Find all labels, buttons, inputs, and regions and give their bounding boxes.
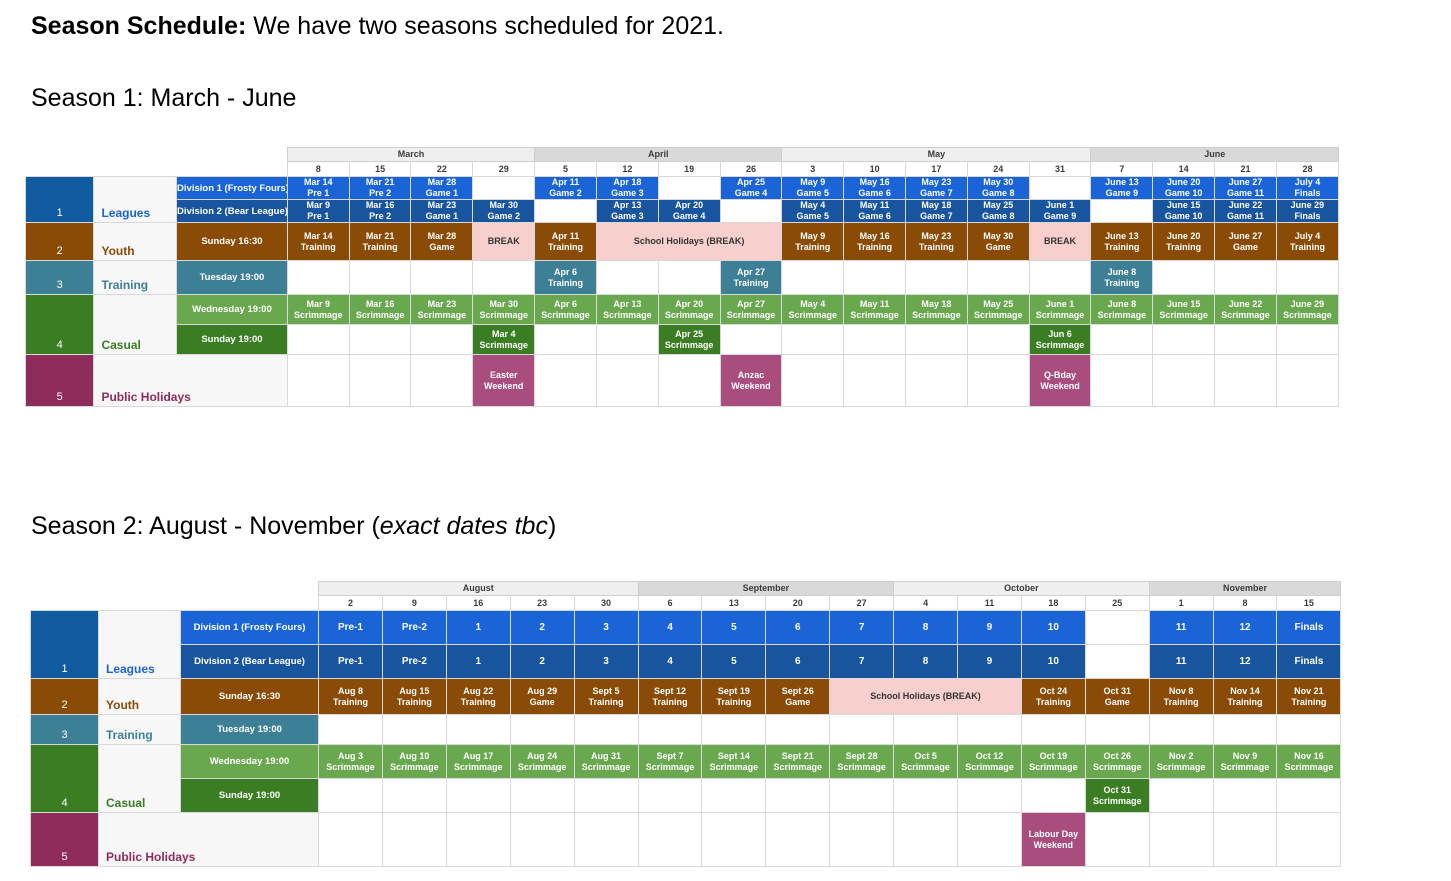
day-header: 15: [349, 162, 411, 177]
cell-line1: June 20: [1153, 231, 1214, 242]
division-2-cell: May 11Game 6: [844, 200, 906, 223]
cell-line1: May 23: [906, 231, 967, 242]
row-public-holidays: 5Public HolidaysEasterWeekendAnzacWeeken…: [26, 355, 1339, 407]
break-cell: School Holidays (BREAK): [830, 679, 1022, 715]
scrimmage-cell: Aug 31Scrimmage: [574, 745, 638, 779]
empty-cell: [830, 715, 894, 745]
schedule-page: Season Schedule: We have two seasons sch…: [0, 0, 1451, 881]
day-header: 31: [1029, 162, 1091, 177]
empty-cell: [1215, 261, 1277, 295]
cell-line1: June 8: [1091, 299, 1152, 310]
cell-line1: May 16: [844, 177, 905, 188]
empty-cell: [1153, 261, 1215, 295]
day-header: 7: [1091, 162, 1153, 177]
day-header: 1: [1149, 596, 1213, 611]
division-1-cell: Mar 28Game 1: [411, 177, 473, 200]
division-2-cell: 9: [958, 645, 1022, 679]
cell-line1: Aug 10: [383, 751, 446, 762]
empty-cell: [782, 261, 844, 295]
public-holiday-cell: EasterWeekend: [473, 355, 535, 407]
empty-cell: [894, 813, 958, 867]
youth-cell: Sept 19Training: [702, 679, 766, 715]
cell-line2: Training: [1277, 242, 1338, 253]
cell-line1: Sept 5: [575, 686, 638, 697]
cell-line2: Game 6: [844, 211, 905, 222]
cell-line1: July 4: [1277, 231, 1338, 242]
day-header: 26: [720, 162, 782, 177]
cell-line2: Scrimmage: [1277, 762, 1340, 773]
cell-line2: Game 7: [906, 211, 967, 222]
cell-line2: Training: [1091, 278, 1152, 289]
sub-label-division-1: Division 1 (Frosty Fours): [181, 611, 319, 645]
division-2-cell: May 25Game 8: [967, 200, 1029, 223]
division-1-cell: Pre-1: [319, 611, 383, 645]
empty-cell: [702, 813, 766, 867]
header-spacer: [31, 582, 319, 596]
cell-line2: Weekend: [1030, 381, 1091, 392]
empty-cell: [446, 813, 510, 867]
sub-label-division-2: Division 2 (Bear League): [181, 645, 319, 679]
scrimmage-cell: Oct 19Scrimmage: [1021, 745, 1085, 779]
cell-line2: Training: [575, 697, 638, 708]
cell-line2: Training: [1153, 242, 1214, 253]
scrimmage-cell: Apr 13Scrimmage: [596, 295, 658, 325]
scrimmage-cell: Mar 30Scrimmage: [473, 295, 535, 325]
public-holiday-cell: AnzacWeekend: [720, 355, 782, 407]
sub-label-sunday: Sunday 19:00: [177, 325, 288, 355]
scrimmage-cell: Mar 23Scrimmage: [411, 295, 473, 325]
cell-line2: Scrimmage: [1153, 310, 1214, 321]
cell-line1: June 22: [1215, 200, 1276, 211]
cell-line2: Game 7: [906, 188, 967, 199]
cell-line2: Scrimmage: [473, 340, 534, 351]
day-header: 18: [1021, 596, 1085, 611]
cell-line1: Nov 2: [1150, 751, 1213, 762]
empty-cell: [473, 261, 535, 295]
cell-line2: Game 3: [597, 211, 658, 222]
cell-line2: Training: [702, 697, 765, 708]
row-index-public-holidays: 5: [26, 355, 94, 407]
empty-cell: [958, 779, 1022, 813]
empty-cell: [596, 355, 658, 407]
cell-line2: Scrimmage: [1030, 340, 1091, 351]
cell-line2: Training: [1091, 242, 1152, 253]
youth-cell: July 4Training: [1276, 223, 1338, 261]
cell-line1: Sept 28: [830, 751, 893, 762]
youth-cell: Aug 15Training: [382, 679, 446, 715]
cell-line1: May 9: [782, 231, 843, 242]
division-2-cell: 2: [510, 645, 574, 679]
scrimmage-cell: June 1Scrimmage: [1029, 295, 1091, 325]
row-training: 3TrainingTuesday 19:00: [31, 715, 1341, 745]
cell-line1: Oct 5: [894, 751, 957, 762]
cell-line2: Training: [906, 242, 967, 253]
month-header: September: [638, 582, 894, 596]
youth-cell: June 27Game: [1215, 223, 1277, 261]
empty-cell: [510, 813, 574, 867]
empty-cell: [967, 355, 1029, 407]
season2-table: AugustSeptemberOctoberNovember2916233061…: [30, 581, 1341, 867]
day-header: 2: [319, 596, 383, 611]
cell-line2: Weekend: [473, 381, 534, 392]
row-category-youth: Youth: [94, 223, 177, 261]
scrimmage-cell: Sept 21Scrimmage: [766, 745, 830, 779]
cell-line1: May 18: [906, 200, 967, 211]
empty-cell: [349, 261, 411, 295]
division-1-cell: Mar 21Pre 2: [349, 177, 411, 200]
division-1-cell: May 23Game 7: [906, 177, 968, 200]
cell-line1: June 8: [1091, 267, 1152, 278]
empty-cell: [287, 325, 349, 355]
day-header: 8: [287, 162, 349, 177]
row-index-leagues: 1: [31, 611, 99, 679]
youth-cell: Nov 21Training: [1277, 679, 1341, 715]
cell-line2: Game 5: [782, 188, 843, 199]
scrimmage-cell: Aug 24Scrimmage: [510, 745, 574, 779]
division-2-cell: June 1Game 9: [1029, 200, 1091, 223]
row-division-2: Division 2 (Bear League)Mar 9Pre 1Mar 16…: [26, 200, 1339, 223]
cell-line1: Apr 13: [597, 299, 658, 310]
empty-cell: [1091, 200, 1153, 223]
cell-line2: Scrimmage: [511, 762, 574, 773]
cell-line2: Game 9: [1030, 211, 1091, 222]
cell-line1: Nov 16: [1277, 751, 1340, 762]
cell-line1: Apr 11: [535, 231, 596, 242]
cell-line2: Scrimmage: [830, 762, 893, 773]
sub-label-sunday: Sunday 19:00: [181, 779, 319, 813]
cell-line1: Apr 27: [721, 299, 782, 310]
cell-line1: Mar 14: [288, 177, 349, 188]
cell-line1: June 13: [1091, 231, 1152, 242]
empty-cell: [349, 325, 411, 355]
empty-cell: [510, 715, 574, 745]
season2-heading-plain: Season 2: August - November (: [31, 512, 380, 540]
sub-label-training: Tuesday 19:00: [181, 715, 319, 745]
day-header: 6: [638, 596, 702, 611]
empty-cell: [535, 200, 597, 223]
cell-line2: Training: [350, 242, 411, 253]
row-division-1: 1LeaguesDivision 1 (Frosty Fours)Mar 14P…: [26, 177, 1339, 200]
month-header: June: [1091, 148, 1339, 162]
division-1-cell: 7: [830, 611, 894, 645]
cell-line1: June 20: [1153, 177, 1214, 188]
division-2-cell: 5: [702, 645, 766, 679]
cell-line2: Scrimmage: [766, 762, 829, 773]
cell-line1: Apr 6: [535, 267, 596, 278]
division-1-cell: 12: [1213, 611, 1277, 645]
empty-cell: [1085, 813, 1149, 867]
cell-line2: Scrimmage: [1150, 762, 1213, 773]
division-2-cell: Pre-2: [382, 645, 446, 679]
cell-line2: Scrimmage: [958, 762, 1021, 773]
row-category-public-holidays: Public Holidays: [94, 355, 287, 407]
sub-label-youth: Sunday 16:30: [177, 223, 288, 261]
cell-line1: Apr 13: [597, 200, 658, 211]
row-division-2: Division 2 (Bear League)Pre-1Pre-2123456…: [31, 645, 1341, 679]
empty-cell: [1276, 261, 1338, 295]
month-header-row: AugustSeptemberOctoberNovember: [31, 582, 1341, 596]
row-public-holidays: 5Public HolidaysLabour DayWeekend: [31, 813, 1341, 867]
cell-line2: Game 3: [597, 188, 658, 199]
cell-line1: Mar 28: [411, 231, 472, 242]
cell-line2: Game 4: [659, 211, 720, 222]
row-youth: 2YouthSunday 16:30Aug 8TrainingAug 15Tra…: [31, 679, 1341, 715]
training-cell: Apr 6Training: [535, 261, 597, 295]
cell-line1: June 13: [1091, 177, 1152, 188]
empty-cell: [844, 355, 906, 407]
empty-cell: [702, 779, 766, 813]
month-header: April: [535, 148, 782, 162]
empty-cell: [1029, 261, 1091, 295]
intro-bold: Season Schedule:: [31, 12, 246, 40]
division-1-cell: 8: [894, 611, 958, 645]
cell-line1: Mar 21: [350, 231, 411, 242]
cell-line1: June 22: [1215, 299, 1276, 310]
division-1-cell: June 20Game 10: [1153, 177, 1215, 200]
division-2-cell: 11: [1149, 645, 1213, 679]
empty-cell: [830, 813, 894, 867]
day-header: 11: [958, 596, 1022, 611]
cell-line2: Game: [411, 242, 472, 253]
row-casual-sunday: Sunday 19:00Mar 4ScrimmageApr 25Scrimmag…: [26, 325, 1339, 355]
public-holiday-cell: Q-BdayWeekend: [1029, 355, 1091, 407]
division-2-cell: 12: [1213, 645, 1277, 679]
youth-cell: Sept 26Game: [766, 679, 830, 715]
cell-line1: Aug 3: [319, 751, 382, 762]
scrimmage-cell: Sept 28Scrimmage: [830, 745, 894, 779]
day-header: 12: [596, 162, 658, 177]
sub-label-wednesday: Wednesday 19:00: [181, 745, 319, 779]
division-1-cell: June 13Game 9: [1091, 177, 1153, 200]
month-header-row: MarchAprilMayJune: [26, 148, 1339, 162]
row-category-public-holidays: Public Holidays: [99, 813, 319, 867]
empty-cell: [535, 325, 597, 355]
empty-cell: [1085, 645, 1149, 679]
cell-line2: Training: [535, 242, 596, 253]
scrimmage-cell: Aug 17Scrimmage: [446, 745, 510, 779]
empty-cell: [638, 779, 702, 813]
cell-line2: Scrimmage: [659, 340, 720, 351]
cell-line2: Training: [639, 697, 702, 708]
cell-line1: Oct 26: [1086, 751, 1149, 762]
cell-line1: Mar 9: [288, 299, 349, 310]
cell-line1: Sept 12: [639, 686, 702, 697]
cell-line1: June 1: [1030, 299, 1091, 310]
cell-line2: Scrimmage: [411, 310, 472, 321]
empty-cell: [382, 779, 446, 813]
cell-line1: Anzac: [721, 370, 782, 381]
cell-line1: Sept 26: [766, 686, 829, 697]
cell-line1: May 16: [844, 231, 905, 242]
cell-line1: Labour Day: [1022, 829, 1085, 840]
division-2-cell: June 29Finals: [1276, 200, 1338, 223]
empty-cell: [411, 261, 473, 295]
cell-line2: Scrimmage: [1214, 762, 1277, 773]
day-header: 10: [844, 162, 906, 177]
cell-line2: Scrimmage: [1277, 310, 1338, 321]
cell-line1: Aug 29: [511, 686, 574, 697]
cell-line2: Scrimmage: [575, 762, 638, 773]
division-1-cell: 9: [958, 611, 1022, 645]
cell-line1: May 11: [844, 200, 905, 211]
scrimmage-cell: June 8Scrimmage: [1091, 295, 1153, 325]
day-header-row: 815222951219263101724317142128: [26, 162, 1339, 177]
empty-cell: [894, 779, 958, 813]
empty-cell: [1277, 813, 1341, 867]
empty-cell: [1276, 325, 1338, 355]
cell-line1: Jun 6: [1030, 329, 1091, 340]
division-2-cell: 10: [1021, 645, 1085, 679]
cell-line1: Q-Bday: [1030, 370, 1091, 381]
empty-cell: [1085, 715, 1149, 745]
empty-cell: [411, 355, 473, 407]
empty-cell: [319, 715, 383, 745]
scrimmage-cell: Oct 12Scrimmage: [958, 745, 1022, 779]
cell-line2: Scrimmage: [1086, 796, 1149, 807]
sunday-scrimmage-cell: Mar 4Scrimmage: [473, 325, 535, 355]
training-cell: June 8Training: [1091, 261, 1153, 295]
division-1-cell: July 4Finals: [1276, 177, 1338, 200]
cell-line1: Aug 31: [575, 751, 638, 762]
scrimmage-cell: Oct 26Scrimmage: [1085, 745, 1149, 779]
division-2-cell: June 15Game 10: [1153, 200, 1215, 223]
cell-line1: Nov 14: [1214, 686, 1277, 697]
youth-cell: May 16Training: [844, 223, 906, 261]
cell-line1: Mar 16: [350, 200, 411, 211]
empty-cell: [1149, 779, 1213, 813]
day-header: 23: [510, 596, 574, 611]
cell-line1: Apr 11: [535, 177, 596, 188]
header-spacer: [26, 162, 288, 177]
division-1-cell: Apr 18Game 3: [596, 177, 658, 200]
cell-line1: July 4: [1277, 177, 1338, 188]
division-1-cell: 2: [510, 611, 574, 645]
youth-cell: Aug 8Training: [319, 679, 383, 715]
day-header: 22: [411, 162, 473, 177]
sub-label-training: Tuesday 19:00: [177, 261, 288, 295]
scrimmage-cell: Apr 20Scrimmage: [658, 295, 720, 325]
division-2-cell: Apr 20Game 4: [658, 200, 720, 223]
empty-cell: [1091, 325, 1153, 355]
row-casual-wednesday: 4CasualWednesday 19:00Mar 9ScrimmageMar …: [26, 295, 1339, 325]
empty-cell: [319, 779, 383, 813]
empty-cell: [844, 261, 906, 295]
row-index-public-holidays: 5: [31, 813, 99, 867]
empty-cell: [1215, 325, 1277, 355]
day-header: 28: [1276, 162, 1338, 177]
empty-cell: [446, 779, 510, 813]
public-holiday-cell: Labour DayWeekend: [1021, 813, 1085, 867]
season2-heading: Season 2: August - November (exact dates…: [31, 510, 556, 542]
youth-cell: May 30Game: [967, 223, 1029, 261]
cell-line2: Game: [766, 697, 829, 708]
cell-line2: Game 10: [1153, 211, 1214, 222]
empty-cell: [967, 261, 1029, 295]
row-category-training: Training: [99, 715, 181, 745]
division-1-cell: 6: [766, 611, 830, 645]
cell-line2: Scrimmage: [1022, 762, 1085, 773]
row-category-casual: Casual: [94, 295, 177, 355]
youth-cell: Mar 14Training: [287, 223, 349, 261]
cell-line2: Game: [511, 697, 574, 708]
empty-cell: [1149, 813, 1213, 867]
cell-line2: Scrimmage: [447, 762, 510, 773]
cell-line2: Training: [1022, 697, 1085, 708]
cell-line1: May 30: [968, 231, 1029, 242]
youth-cell: Mar 28Game: [411, 223, 473, 261]
day-header: 24: [967, 162, 1029, 177]
division-2-cell: May 4Game 5: [782, 200, 844, 223]
empty-cell: [1153, 355, 1215, 407]
cell-line1: Mar 9: [288, 200, 349, 211]
empty-cell: [958, 813, 1022, 867]
empty-cell: [596, 261, 658, 295]
cell-line2: Game: [1215, 242, 1276, 253]
cell-line1: June 29: [1277, 299, 1338, 310]
row-category-youth: Youth: [99, 679, 181, 715]
cell-line2: Scrimmage: [350, 310, 411, 321]
cell-line1: Nov 8: [1150, 686, 1213, 697]
division-1-cell: Finals: [1277, 611, 1341, 645]
day-header: 21: [1215, 162, 1277, 177]
cell-line1: May 4: [782, 299, 843, 310]
cell-line2: Scrimmage: [535, 310, 596, 321]
cell-line1: May 30: [968, 177, 1029, 188]
cell-line2: Training: [782, 242, 843, 253]
cell-line2: Pre 2: [350, 188, 411, 199]
scrimmage-cell: Sept 14Scrimmage: [702, 745, 766, 779]
month-header: May: [782, 148, 1091, 162]
empty-cell: [906, 325, 968, 355]
cell-line2: Game 10: [1153, 188, 1214, 199]
division-1-cell: 4: [638, 611, 702, 645]
row-division-1: 1LeaguesDivision 1 (Frosty Fours)Pre-1Pr…: [31, 611, 1341, 645]
sub-label-division-2: Division 2 (Bear League): [177, 200, 288, 223]
season1-heading: Season 1: March - June: [31, 82, 296, 114]
youth-cell: Nov 14Training: [1213, 679, 1277, 715]
cell-line2: Training: [1277, 697, 1340, 708]
empty-cell: [720, 325, 782, 355]
scrimmage-cell: June 29Scrimmage: [1276, 295, 1338, 325]
scrimmage-cell: Sept 7Scrimmage: [638, 745, 702, 779]
cell-line2: Game 8: [968, 188, 1029, 199]
empty-cell: [596, 325, 658, 355]
scrimmage-cell: June 22Scrimmage: [1215, 295, 1277, 325]
cell-line1: Sept 7: [639, 751, 702, 762]
sunday-scrimmage-cell: Oct 31Scrimmage: [1085, 779, 1149, 813]
cell-line2: Scrimmage: [968, 310, 1029, 321]
empty-cell: [830, 779, 894, 813]
division-2-cell: May 18Game 7: [906, 200, 968, 223]
month-header: November: [1149, 582, 1341, 596]
empty-cell: [702, 715, 766, 745]
scrimmage-cell: May 25Scrimmage: [967, 295, 1029, 325]
empty-cell: [1277, 715, 1341, 745]
division-1-cell: Pre-2: [382, 611, 446, 645]
cell-line2: Game 1: [411, 188, 472, 199]
cell-line1: Apr 18: [597, 177, 658, 188]
division-1-cell: 1: [446, 611, 510, 645]
empty-cell: [958, 715, 1022, 745]
empty-cell: [535, 355, 597, 407]
day-header: 27: [830, 596, 894, 611]
row-index-leagues: 1: [26, 177, 94, 223]
empty-cell: [510, 779, 574, 813]
cell-line1: May 23: [906, 177, 967, 188]
row-category-casual: Casual: [99, 745, 181, 813]
cell-line1: May 9: [782, 177, 843, 188]
empty-cell: [658, 177, 720, 200]
